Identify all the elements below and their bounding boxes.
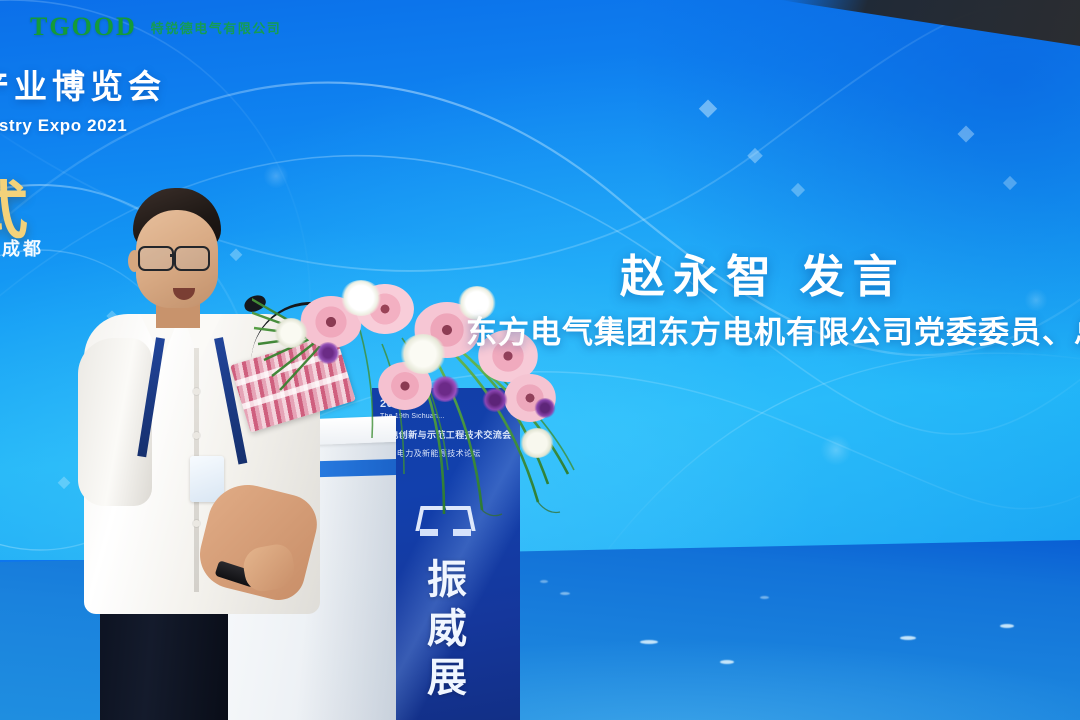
- expo-city-cn: 成都: [2, 235, 44, 261]
- banner-char-2: 威: [414, 605, 480, 654]
- eyeglasses-bridge: [170, 254, 176, 257]
- conference-stage-photo: 2021 The 19th Sichuan... 水电创新与示范工程技术交流会 …: [0, 0, 1080, 720]
- banner-char-3: 展: [414, 654, 480, 703]
- chrysanthemum-white: [400, 334, 446, 374]
- orchid-purple: [534, 398, 556, 418]
- speaker-name-heading: 赵永智 发言: [620, 240, 906, 305]
- chrysanthemum-white: [340, 280, 382, 316]
- expo-title-block: 力产业博览会 er Industry Expo 2021: [0, 60, 238, 136]
- banner-vertical-text: 振 威 展: [414, 556, 480, 702]
- orchid-purple: [482, 388, 508, 412]
- chrysanthemum-white: [520, 428, 554, 458]
- speaker-sleeve-left: [78, 338, 152, 506]
- eyeglasses-lens-right: [174, 246, 210, 271]
- expo-title-cn: 力产业博览会: [0, 60, 238, 108]
- tgood-company-cn: 特锐德电气有限公司: [151, 18, 282, 37]
- eyeglasses-lens-left: [138, 246, 174, 271]
- orchid-purple: [316, 342, 340, 364]
- orchid-purple: [430, 376, 460, 402]
- brand-logo-bar: TGOOD 特锐德电气有限公司: [30, 12, 281, 42]
- chrysanthemum-white: [274, 318, 308, 348]
- banner-char-1: 振: [414, 556, 480, 605]
- expo-title-en: er Industry Expo 2021: [0, 116, 238, 136]
- speaker-title-line: 东方电气集团东方电机有限公司党委委员、总经理助: [466, 307, 1080, 352]
- tgood-wordmark: TGOOD: [30, 12, 137, 42]
